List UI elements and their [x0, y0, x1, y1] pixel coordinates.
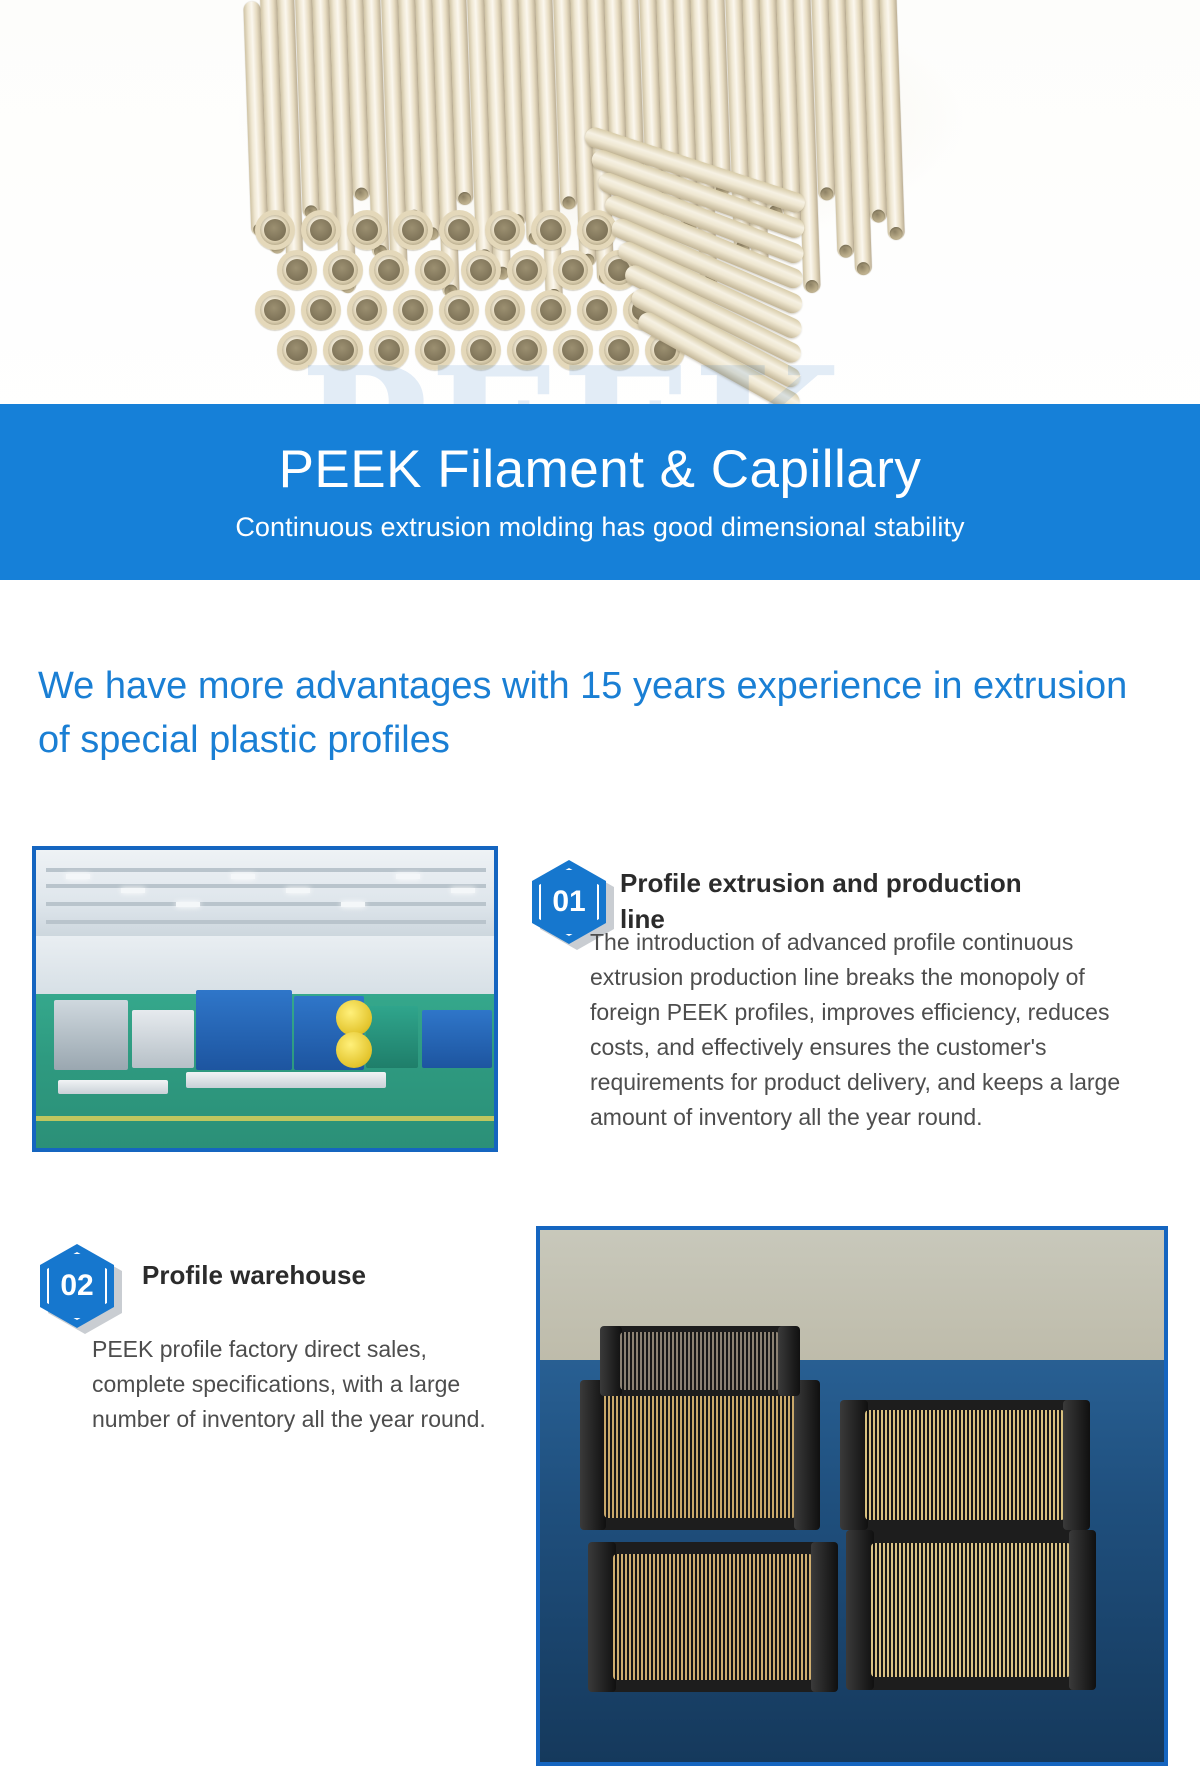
- extrusion-machine: [422, 1010, 492, 1068]
- hero-image: [0, 0, 1200, 460]
- extrusion-machine: [186, 1072, 386, 1088]
- ceiling-lamp: [286, 888, 310, 893]
- filament-spool: [840, 1400, 1090, 1530]
- capillary-tube-end: [369, 250, 409, 290]
- spool-rim: [778, 1326, 800, 1396]
- feature-2-body: PEEK profile factory direct sales, compl…: [92, 1332, 512, 1437]
- feature-1-body: The introduction of advanced profile con…: [590, 925, 1160, 1135]
- capillary-tube-end: [461, 250, 501, 290]
- capillary-tube-end: [531, 210, 571, 250]
- capillary-tube-end: [553, 330, 593, 370]
- ceiling-lamp: [451, 888, 475, 893]
- spool-filament: [871, 1543, 1071, 1677]
- capillary-tube-end: [507, 330, 547, 370]
- extrusion-machine: [58, 1080, 168, 1094]
- capillary-tube-end: [393, 290, 433, 330]
- capillary-tube-end: [485, 290, 525, 330]
- ceiling-lamp: [231, 874, 255, 879]
- filament-spool: [846, 1530, 1096, 1690]
- capillary-tube-end: [277, 330, 317, 370]
- ceiling-beam: [46, 920, 486, 924]
- spool-rim: [840, 1400, 868, 1530]
- capillary-tube-end: [415, 250, 455, 290]
- spool-rim: [794, 1380, 820, 1530]
- banner-subtitle: Continuous extrusion molding has good di…: [235, 512, 964, 543]
- ceiling-lamp: [121, 888, 145, 893]
- extrusion-machine: [366, 1006, 418, 1068]
- spool-filament: [613, 1554, 813, 1680]
- hex-badge-2-number: 02: [60, 1269, 93, 1303]
- spool-rim: [846, 1530, 874, 1690]
- hex-badge-2-inner: 02: [47, 1252, 107, 1320]
- capillary-tube-end: [531, 290, 571, 330]
- ceiling-beam: [46, 868, 486, 872]
- feature-2-image: [536, 1226, 1168, 1766]
- spool-filament: [865, 1410, 1065, 1519]
- yellow-coil: [336, 1000, 372, 1036]
- floor-marking: [36, 1116, 496, 1121]
- capillary-tube-end: [393, 210, 433, 250]
- capillary-tube-end: [255, 210, 295, 250]
- capillary-tube-end: [553, 250, 593, 290]
- hex-badge-1-number: 01: [552, 885, 585, 919]
- spool-rim: [811, 1542, 839, 1692]
- capillary-tube-end: [323, 250, 363, 290]
- page-headline: We have more advantages with 15 years ex…: [38, 660, 1168, 768]
- ceiling-beam: [46, 884, 486, 888]
- extrusion-machine: [132, 1010, 194, 1068]
- capillary-tube-end: [301, 290, 341, 330]
- capillary-tube-end: [301, 210, 341, 250]
- banner-title: PEEK Filament & Capillary: [279, 441, 922, 511]
- spool-filament: [604, 1392, 796, 1518]
- hero-banner: PEEK Filament & Capillary Continuous ext…: [0, 404, 1200, 580]
- ceiling-lamp: [176, 902, 200, 907]
- filament-spool: [580, 1380, 820, 1530]
- capillary-tube-end: [507, 250, 547, 290]
- feature-2-title: Profile warehouse: [142, 1258, 522, 1294]
- spool-filament: [620, 1332, 780, 1391]
- capillary-tube-end: [323, 330, 363, 370]
- capillary-tube-end: [347, 210, 387, 250]
- diagonal-rods: [600, 120, 900, 420]
- capillary-tube-end: [347, 290, 387, 330]
- capillary-tube-end: [277, 250, 317, 290]
- capillary-tube-end: [439, 210, 479, 250]
- capillary-tube-end: [255, 290, 295, 330]
- spool-rim: [580, 1380, 606, 1530]
- ceiling-beam: [46, 902, 486, 906]
- capillary-tube-end: [369, 330, 409, 370]
- extrusion-machine: [54, 1000, 128, 1070]
- feature-1-image: [32, 846, 498, 1152]
- capillary-tube-end: [461, 330, 501, 370]
- yellow-coil: [336, 1032, 372, 1068]
- capillary-tube-end: [485, 210, 525, 250]
- extrusion-machine: [196, 990, 292, 1070]
- spool-rim: [600, 1326, 622, 1396]
- spool-rim: [588, 1542, 616, 1692]
- ceiling-lamp: [341, 902, 365, 907]
- spool-rim: [1063, 1400, 1091, 1530]
- filament-spool: [588, 1542, 838, 1692]
- ceiling-lamp: [66, 874, 90, 879]
- capillary-tube-end: [415, 330, 455, 370]
- ceiling-lamp: [396, 874, 420, 879]
- hero-backdrop: [0, 0, 1200, 460]
- factory-wall: [36, 936, 494, 994]
- filament-spool: [600, 1326, 800, 1396]
- spool-rim: [1069, 1530, 1097, 1690]
- capillary-tube-end: [439, 290, 479, 330]
